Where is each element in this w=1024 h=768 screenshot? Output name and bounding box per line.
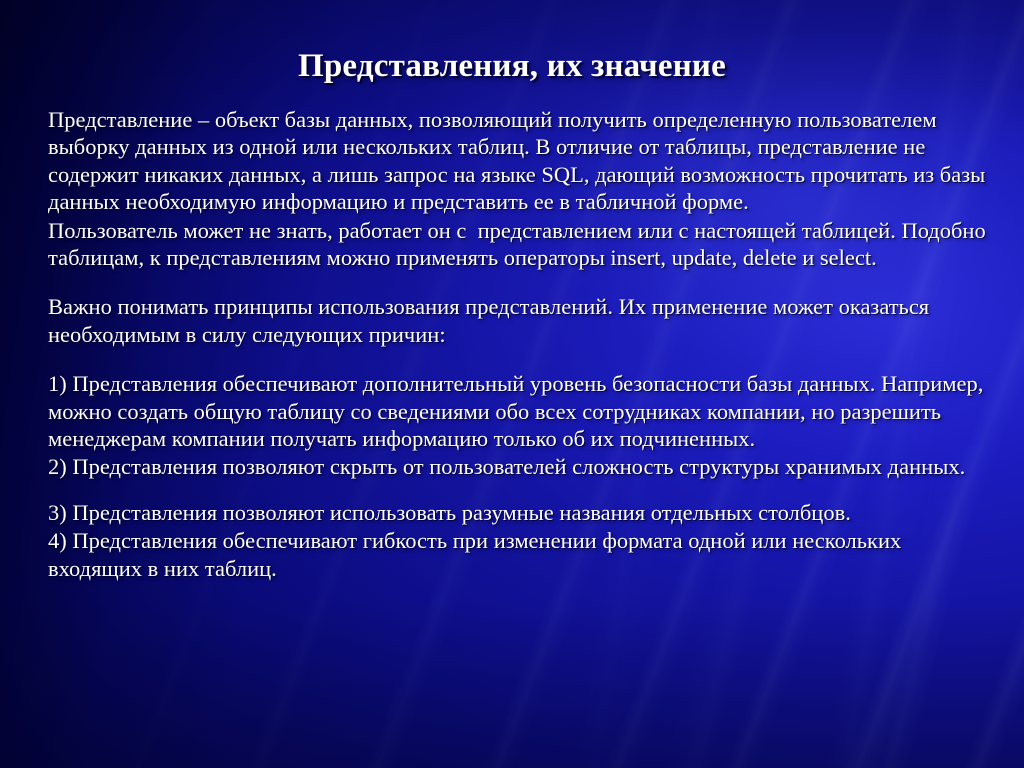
list-item-reason-2: 2) Представления позволяют скрыть от пол… — [48, 453, 992, 480]
presentation-slide: Представления, их значение Представление… — [0, 0, 1024, 768]
paragraph-definition: Представление – объект базы данных, позв… — [48, 106, 992, 216]
list-item-reason-3: 3) Представления позволяют использовать … — [48, 499, 992, 526]
paragraph-importance: Важно понимать принципы использования пр… — [48, 293, 992, 348]
paragraph-spacer — [48, 271, 992, 293]
list-item-reason-1: 1) Представления обеспечивают дополнител… — [48, 370, 992, 452]
slide-body: Представление – объект базы данных, позв… — [48, 106, 992, 582]
slide-content: Представления, их значение Представление… — [0, 0, 1024, 768]
list-item-reason-4: 4) Представления обеспечивают гибкость п… — [48, 527, 992, 582]
paragraph-user-transparency: Пользователь может не знать, работает он… — [48, 217, 992, 272]
slide-title: Представления, их значение — [0, 48, 1024, 85]
paragraph-spacer — [48, 481, 992, 499]
paragraph-spacer — [48, 348, 992, 370]
